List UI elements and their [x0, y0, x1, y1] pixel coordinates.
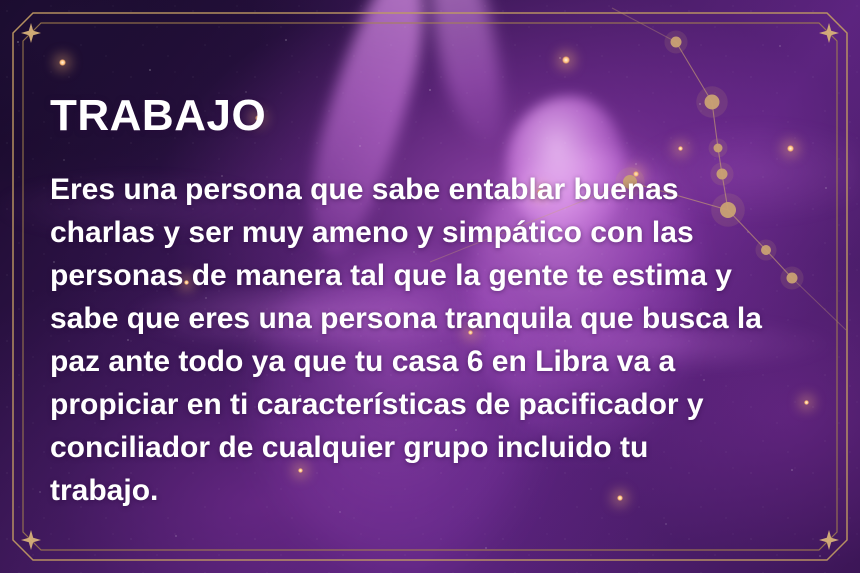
card-body-line: paz ante todo ya que tu casa 6 en Libra … [50, 345, 675, 378]
card-body-text: Eres una persona que sabe entablar buena… [50, 168, 820, 512]
card-body-line: conciliador de cualquier grupo incluido … [50, 431, 648, 464]
card-body-line: charlas y ser muy ameno y simpático con … [50, 216, 694, 249]
glow-star-icon [59, 59, 66, 66]
horoscope-card: TRABAJO Eres una persona que sabe entabl… [0, 0, 860, 573]
sparkle-icon-bottom-right [819, 530, 839, 550]
card-text-block: TRABAJO Eres una persona que sabe entabl… [50, 92, 822, 512]
card-body-line: trabajo. [50, 474, 158, 507]
constellation-line [612, 8, 676, 42]
sparkle-icon-top-right [819, 23, 839, 43]
sparkle-icon-top-left [21, 23, 41, 43]
glow-star-icon [562, 56, 570, 64]
card-body-line: sabe que eres una persona tranquila que … [50, 302, 762, 335]
sparkle-icon-bottom-left [21, 530, 41, 550]
card-body-line: personas de manera tal que la gente te e… [50, 259, 732, 292]
page-title: TRABAJO [50, 92, 822, 140]
constellation-node [671, 37, 682, 48]
card-body-line: Eres una persona que sabe entablar buena… [50, 173, 679, 206]
constellation-node-halo [664, 30, 687, 53]
card-body-line: propiciar en ti características de pacif… [50, 388, 704, 421]
